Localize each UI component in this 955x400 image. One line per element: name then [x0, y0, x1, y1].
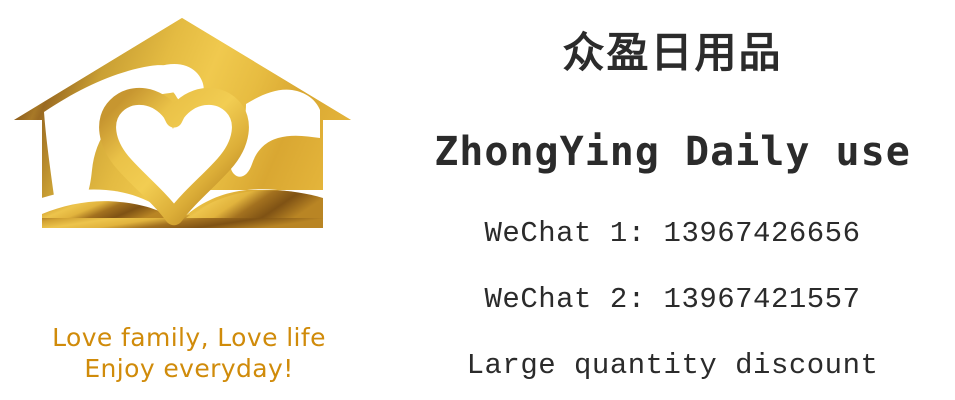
- promo-line: Large quantity discount: [390, 347, 955, 385]
- logo-block: Love family, Love life Enjoy everyday!: [0, 0, 400, 400]
- house-with-heart-logo-icon: [10, 14, 355, 246]
- brand-name-english: ZhongYing Daily use: [390, 126, 955, 178]
- tagline: Love family, Love life Enjoy everyday!: [0, 322, 378, 384]
- banner-root: Love family, Love life Enjoy everyday! 众…: [0, 0, 955, 400]
- tagline-line-2: Enjoy everyday!: [0, 353, 378, 384]
- tagline-line-1: Love family, Love life: [0, 322, 378, 353]
- wechat-1-line: WeChat 1: 13967426656: [390, 215, 955, 253]
- info-block: 众盈日用品 ZhongYing Daily use WeChat 1: 1396…: [390, 0, 955, 400]
- brand-name-chinese: 众盈日用品: [390, 26, 955, 80]
- wechat-2-line: WeChat 2: 13967421557: [390, 281, 955, 319]
